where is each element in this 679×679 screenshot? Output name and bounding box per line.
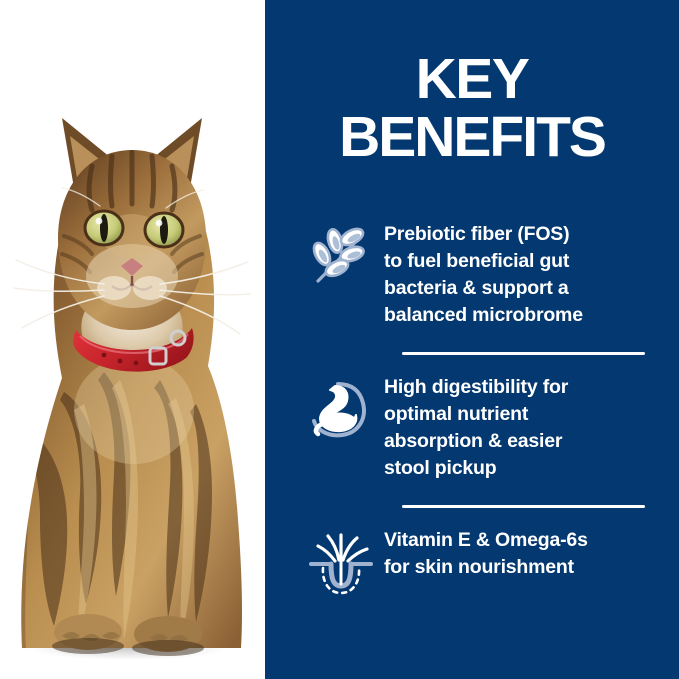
benefits-panel: KEY BENEFITS: [265, 0, 679, 679]
cat-eye-left: [85, 211, 123, 245]
wheat-sprig-icon: [303, 218, 379, 290]
spacer: [265, 336, 679, 352]
benefit-line: balanced microbrome: [384, 304, 583, 326]
benefit-line: absorption & easier: [384, 430, 562, 452]
benefit-item-prebiotic-fiber: Prebiotic fiber (FOS) to fuel beneficial…: [265, 218, 679, 336]
benefit-item-high-digestibility: High digestibility for optimal nutrient …: [265, 371, 679, 489]
benefit-line: stool pickup: [384, 457, 496, 479]
cat-photo: [0, 0, 264, 679]
benefit-line: to fuel beneficial gut: [384, 250, 569, 272]
title-line-2: BENEFITS: [265, 108, 679, 166]
benefit-line: Prebiotic fiber (FOS): [384, 223, 569, 245]
stomach-icon: [303, 371, 379, 443]
hair-follicle-icon: [303, 524, 379, 596]
key-benefits-poster: KEY BENEFITS: [0, 0, 679, 679]
benefit-line: for skin nourishment: [384, 556, 574, 578]
page-title: KEY BENEFITS: [265, 50, 679, 166]
title-line-1: KEY: [265, 50, 679, 108]
benefit-list: Prebiotic fiber (FOS) to fuel beneficial…: [265, 218, 679, 642]
spacer: [265, 508, 679, 524]
benefit-item-vitamin-e-omega: Vitamin E & Omega-6s for skin nourishmen…: [265, 524, 679, 642]
spacer: [265, 489, 679, 505]
benefit-line: optimal nutrient: [384, 403, 528, 425]
benefit-text-high-digestibility: High digestibility for optimal nutrient …: [379, 371, 679, 482]
benefit-line: bacteria & support a: [384, 277, 569, 299]
cat-eye-right: [145, 213, 183, 247]
benefit-line: High digestibility for: [384, 376, 568, 398]
benefit-line: Vitamin E & Omega-6s: [384, 529, 588, 551]
benefit-text-prebiotic-fiber: Prebiotic fiber (FOS) to fuel beneficial…: [379, 218, 679, 329]
cat-photo-panel: [0, 0, 264, 679]
spacer: [265, 355, 679, 371]
benefit-text-vitamin-e-omega: Vitamin E & Omega-6s for skin nourishmen…: [379, 524, 679, 581]
